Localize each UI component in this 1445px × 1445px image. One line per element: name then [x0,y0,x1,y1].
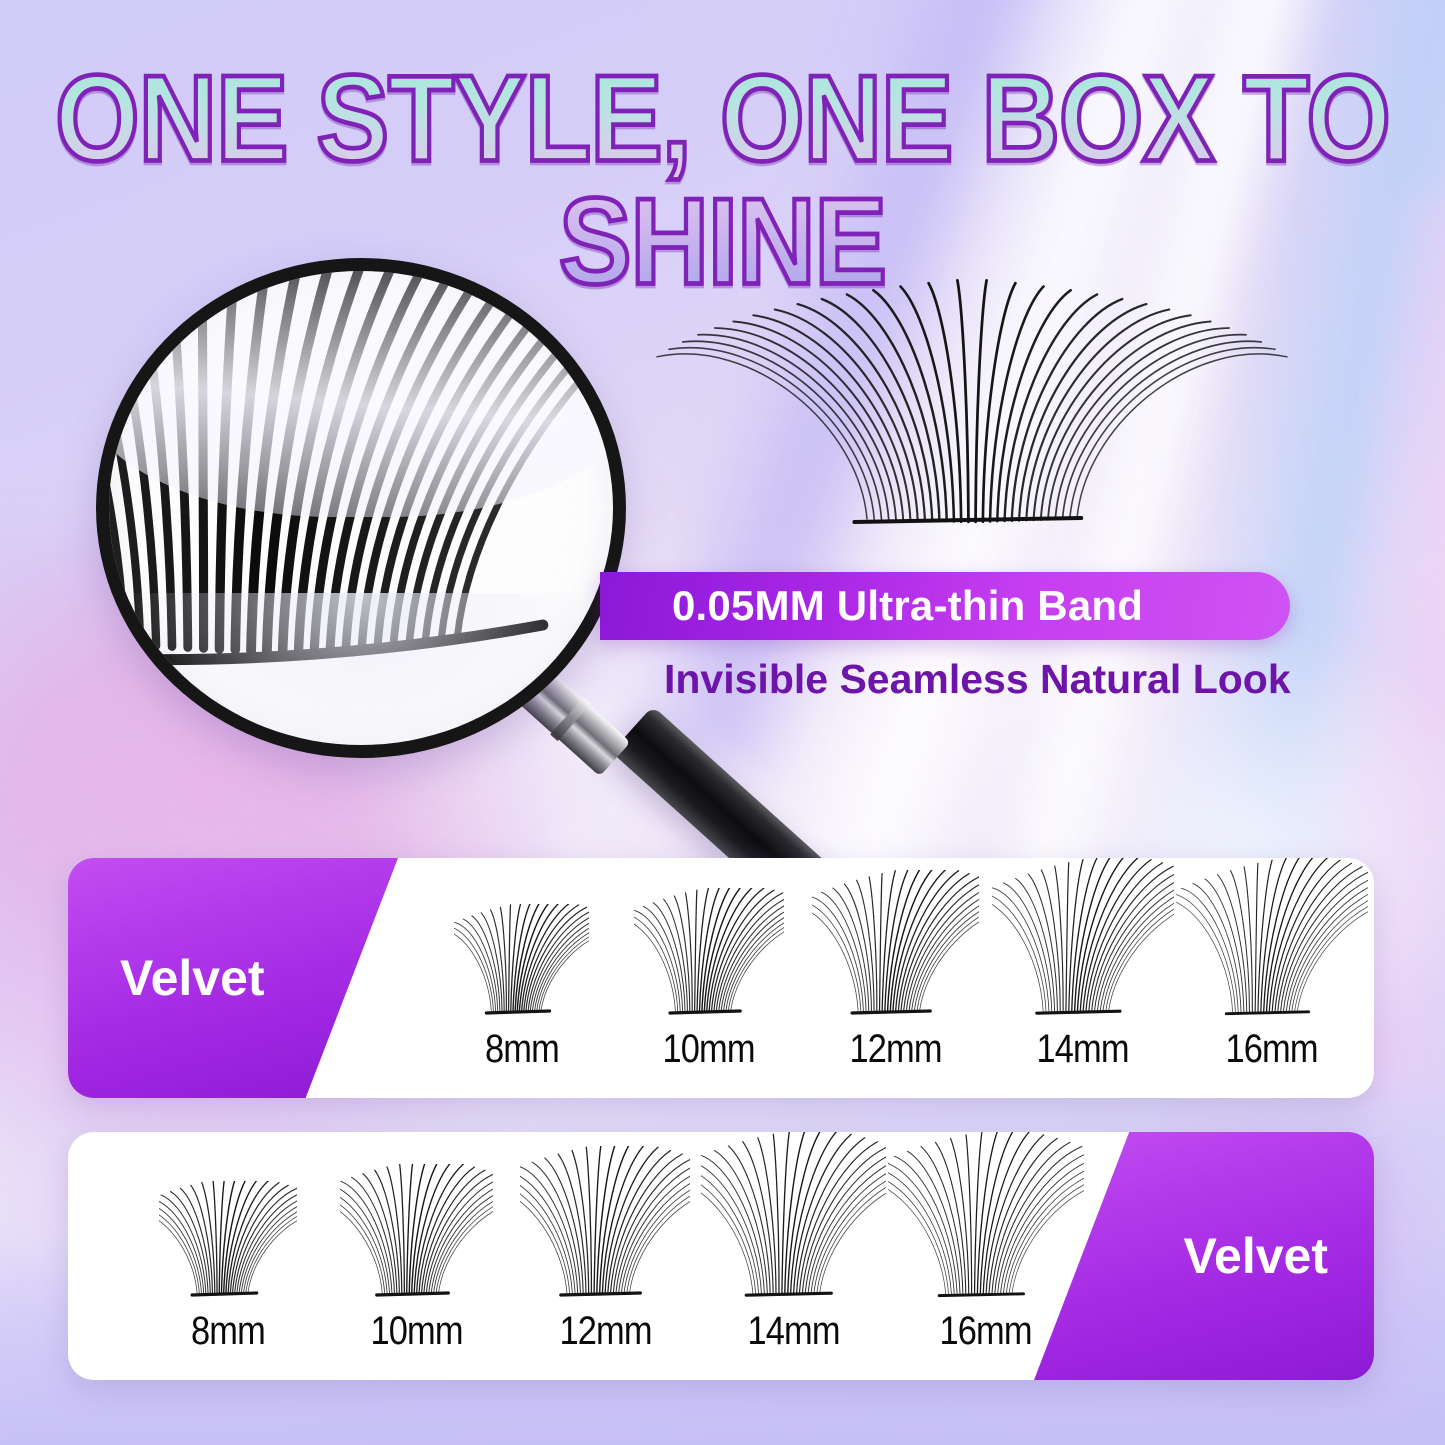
lash-size-item[interactable]: 10mm [323,1132,512,1380]
lash-cluster [1176,858,1368,1021]
lash-size-label: 10mm [662,1027,754,1072]
size-card-row-2: 8mm10mm12mm14mm16mm Velvet [68,1132,1374,1380]
lash-size-label: 12mm [849,1027,941,1072]
lash-cluster [340,1164,493,1303]
lash-size-label: 16mm [940,1309,1032,1354]
lash-size-item[interactable]: 14mm [989,858,1176,1098]
lash-cluster [812,870,979,1021]
lash-size-item[interactable]: 12mm [802,858,989,1098]
velvet-tab-row-1[interactable]: Velvet [68,858,398,1098]
magnifying-glass [96,258,626,758]
lash-size-label: 16mm [1226,1027,1318,1072]
lash-size-item[interactable]: 14mm [700,1132,889,1380]
lash-cluster [992,858,1174,1021]
lash-size-list: 8mm10mm12mm14mm16mm [134,1132,1084,1380]
lash-size-label: 12mm [559,1309,651,1354]
lash-size-item[interactable]: 8mm [134,1132,323,1380]
lash-cluster [634,888,784,1021]
product-banner: ONE STYLE, ONE BOX TO SHINE 0.05MM Ultra… [0,0,1445,1445]
lash-size-label: 14mm [748,1309,840,1354]
lash-size-item[interactable]: 10mm [615,858,802,1098]
lash-size-label: 14mm [1036,1027,1128,1072]
magnifier-lens [96,258,626,758]
lash-cluster [159,1181,297,1303]
velvet-tab-row-2[interactable]: Velvet [1034,1132,1374,1380]
lash-cluster [701,1132,886,1303]
lash-size-list: 8mm10mm12mm14mm16mm [428,858,1368,1098]
lash-cluster-hero [800,240,1230,540]
feature-badge: 0.05MM Ultra-thin Band [600,572,1290,640]
headline-container: ONE STYLE, ONE BOX TO SHINE [0,58,1445,266]
magnified-lash-cluster [109,271,626,758]
feature-subtitle: Invisible Seamless Natural Look [664,656,1364,703]
lash-size-item[interactable]: 12mm [511,1132,700,1380]
lash-size-item[interactable]: 8mm [428,858,615,1098]
lash-size-label: 10mm [371,1309,463,1354]
size-card-row-1: 8mm10mm12mm14mm16mm Velvet [68,858,1374,1098]
velvet-tab-label: Velvet [1183,1227,1328,1285]
lash-cluster [454,904,589,1021]
lash-size-label: 8mm [191,1309,265,1354]
lash-cluster [520,1146,690,1303]
feature-badge-label: 0.05MM Ultra-thin Band [672,582,1143,630]
velvet-tab-label: Velvet [120,949,265,1007]
lash-size-label: 8mm [485,1027,559,1072]
lash-size-item[interactable]: 16mm [1176,858,1368,1098]
lash-cluster [888,1132,1084,1303]
